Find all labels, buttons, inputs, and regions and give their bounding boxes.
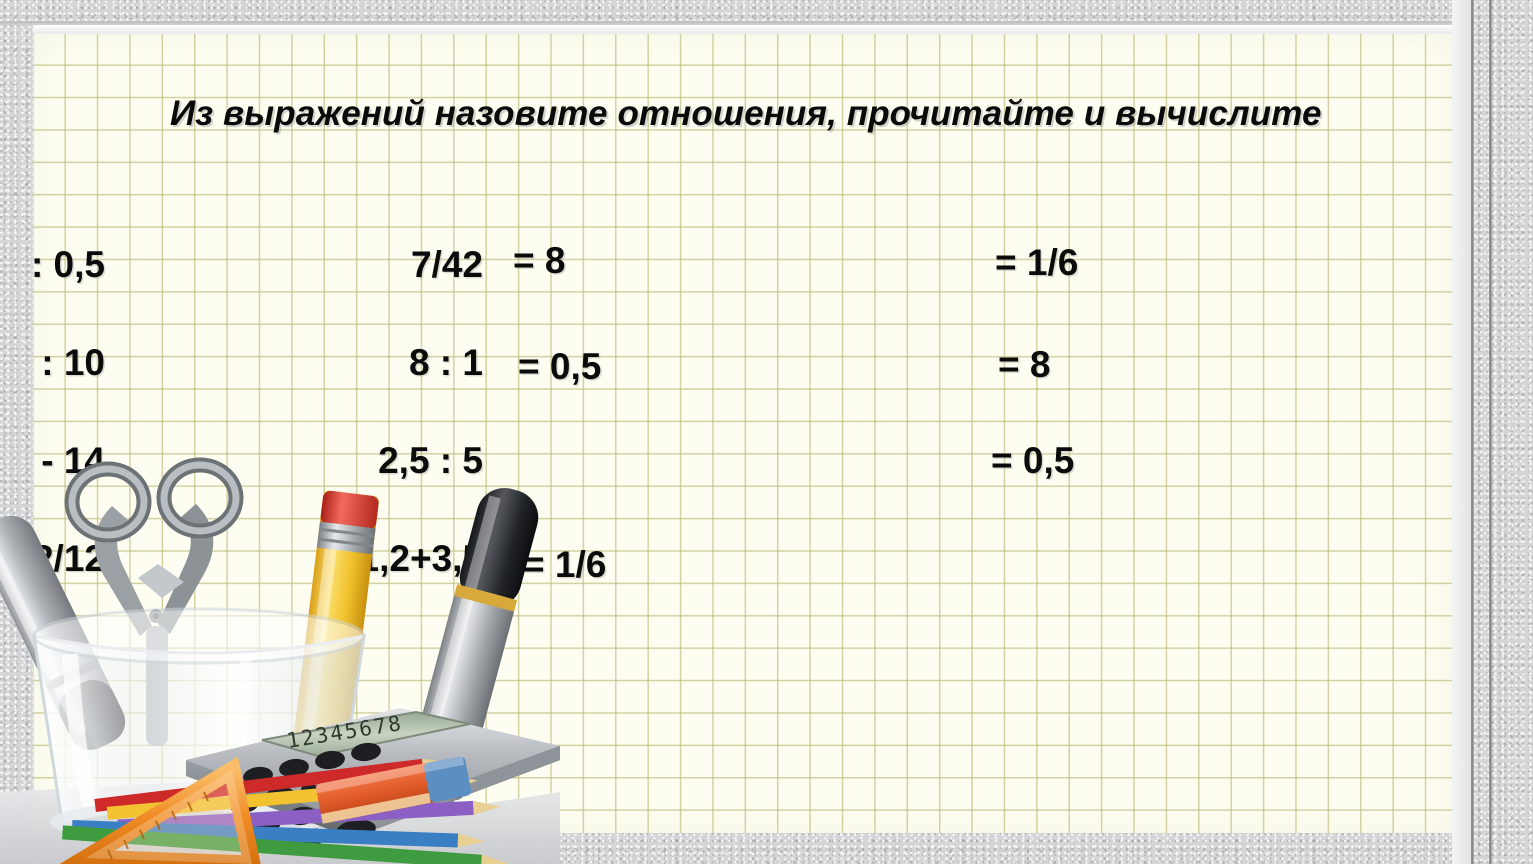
equation-expression: 8 : 1 <box>409 342 483 384</box>
slide-canvas: Из выражений назовите отношения, прочита… <box>0 0 1533 864</box>
frame-top-bevel <box>33 25 1460 34</box>
frame-rail-inner <box>1471 0 1474 864</box>
equation-expression: 7/42 <box>411 244 483 286</box>
equation-result: = 8 <box>998 344 1050 386</box>
page-title: Из выражений назовите отношения, прочита… <box>170 92 1360 137</box>
equation-result: = 1/6 <box>995 242 1078 284</box>
equation-expression: 5 : 10 <box>33 342 105 384</box>
equation-result: = 0,5 <box>518 346 601 388</box>
equation-expression: 4 : 0,5 <box>33 244 105 286</box>
equation-result: = 0,5 <box>991 440 1074 482</box>
school-supplies-illustration: 12345678 <box>0 440 560 864</box>
frame-right-bevel <box>1452 0 1471 864</box>
frame-top-band <box>0 0 1533 21</box>
frame-rail-outer <box>1489 0 1492 864</box>
equation-result: = 8 <box>513 240 565 282</box>
